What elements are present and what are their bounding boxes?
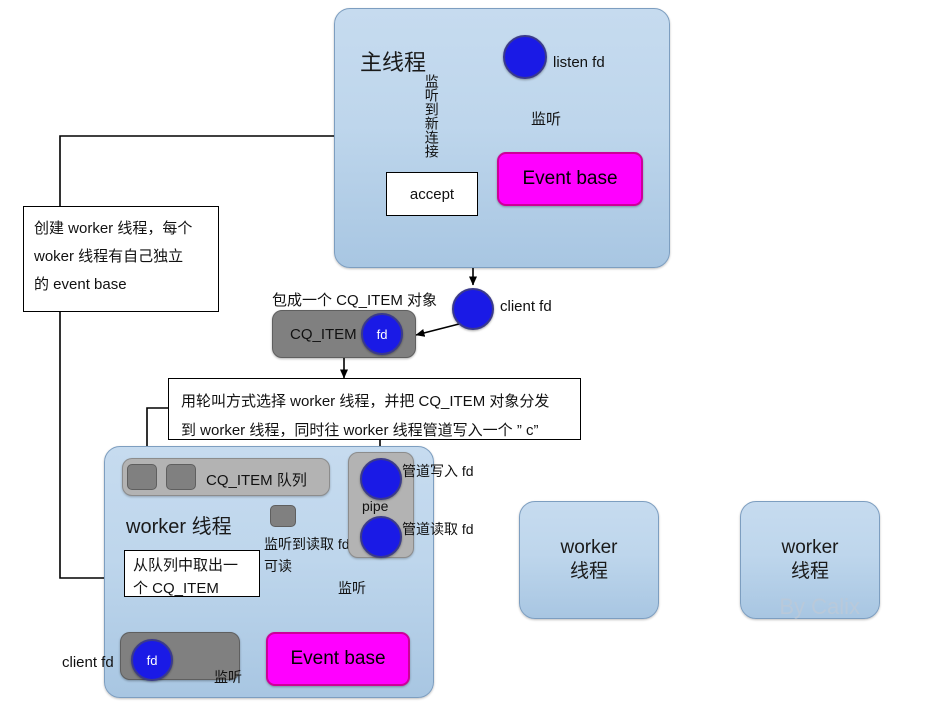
listen-fd-circle [503, 35, 547, 79]
pipe-label: pipe [362, 498, 388, 514]
create-note-line3: 的 event base [34, 271, 208, 299]
line-clientfd-to-cqitem [416, 324, 459, 335]
wrap-cqitem-label: 包成一个 CQ_ITEM 对象 [272, 289, 437, 310]
cq-item-fd-circle: fd [361, 313, 403, 355]
edge-label-new-connection: 监听到新连接 [424, 74, 439, 158]
worker-thread-title-en: worker [126, 516, 186, 538]
worker-client-fd-circle: fd [131, 639, 173, 681]
take-from-queue-box: 从队列中取出一 个 CQ_ITEM [124, 550, 260, 597]
accept-box: accept [386, 172, 478, 216]
pipe-read-fd-circle [360, 516, 402, 558]
edge-label-listen-main: 监听 [531, 108, 561, 129]
dequeued-item [270, 505, 296, 527]
queue-slot-2 [166, 464, 196, 490]
worker-client-fd-label: client fd [62, 654, 114, 671]
create-note-line2: woker 线程有自己独立 [34, 243, 208, 271]
worker-thread-panel-2: worker 线程 [519, 501, 659, 619]
pipe-read-fd-label: 管道读取 fd [402, 519, 474, 539]
create-note-line1: 创建 worker 线程，每个 [34, 215, 208, 243]
edge-label-readable-l2: 可读 [264, 556, 292, 576]
diagram-canvas: 主线程 listen fd 监听到新连接 监听 accept Event bas… [0, 0, 948, 714]
pipe-write-fd-circle [360, 458, 402, 500]
worker-2-title-cn: 线程 [560, 560, 617, 584]
pipe-write-fd-label: 管道写入 fd [402, 461, 474, 481]
dispatch-note-line1: 用轮叫方式选择 worker 线程，并把 CQ_ITEM 对象分发 [181, 388, 568, 417]
take-box-line1: 从队列中取出一 [133, 555, 251, 578]
cq-item-queue-label: CQ_ITEM 队列 [206, 469, 307, 490]
worker-3-title-cn: 线程 [781, 560, 838, 584]
worker-3-title-en: worker [781, 536, 838, 560]
client-fd-label: client fd [500, 298, 552, 315]
worker-event-base: Event base [266, 632, 410, 686]
main-thread-title: 主线程 [360, 45, 426, 77]
watermark: By Calix [779, 594, 860, 620]
main-event-base: Event base [497, 152, 643, 206]
cq-item-label: CQ_ITEM [290, 326, 357, 343]
worker-2-title-en: worker [560, 536, 617, 560]
dispatch-note-line2: 到 worker 线程，同时往 worker 线程管道写入一个 ” c” [181, 417, 568, 446]
edge-label-listen-client: 监听 [214, 667, 242, 687]
dispatch-note: 用轮叫方式选择 worker 线程，并把 CQ_ITEM 对象分发 到 work… [168, 378, 581, 440]
create-worker-note: 创建 worker 线程，每个 woker 线程有自己独立 的 event ba… [23, 206, 219, 312]
worker-thread-title-cn: 线程 [192, 516, 232, 538]
take-box-line2: 个 CQ_ITEM [133, 578, 251, 601]
line-mainthread-to-note [60, 136, 336, 206]
edge-label-readable-l1: 监听到读取 fd [264, 534, 350, 554]
listen-fd-label: listen fd [553, 54, 605, 71]
queue-slot-1 [127, 464, 157, 490]
edge-label-listen-pipe: 监听 [338, 578, 366, 598]
worker-thread-title: worker 线程 [126, 510, 232, 539]
client-fd-circle [452, 288, 494, 330]
